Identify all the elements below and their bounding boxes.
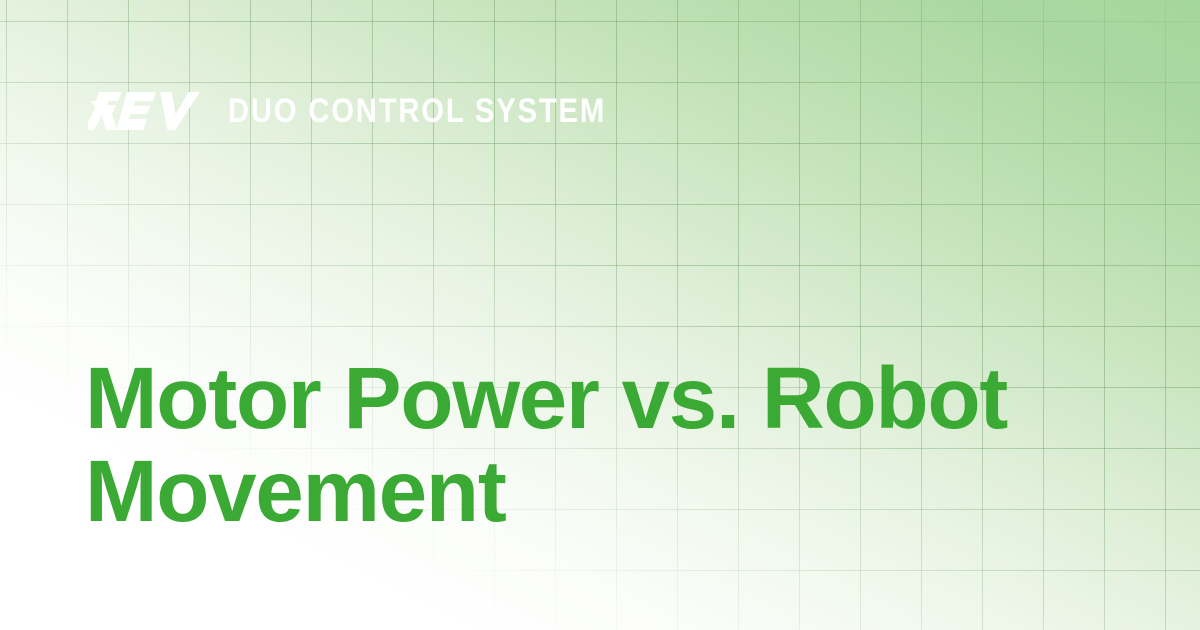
brand-header: DUO CONTROL SYSTEM [88, 88, 668, 134]
social-share-card: DUO CONTROL SYSTEM Motor Power vs. Robot… [0, 0, 1200, 630]
page-title: Motor Power vs. Robot Movement [85, 352, 1095, 538]
product-name-label: DUO CONTROL SYSTEM [228, 94, 606, 128]
rev-robotics-logo-icon [88, 92, 200, 130]
